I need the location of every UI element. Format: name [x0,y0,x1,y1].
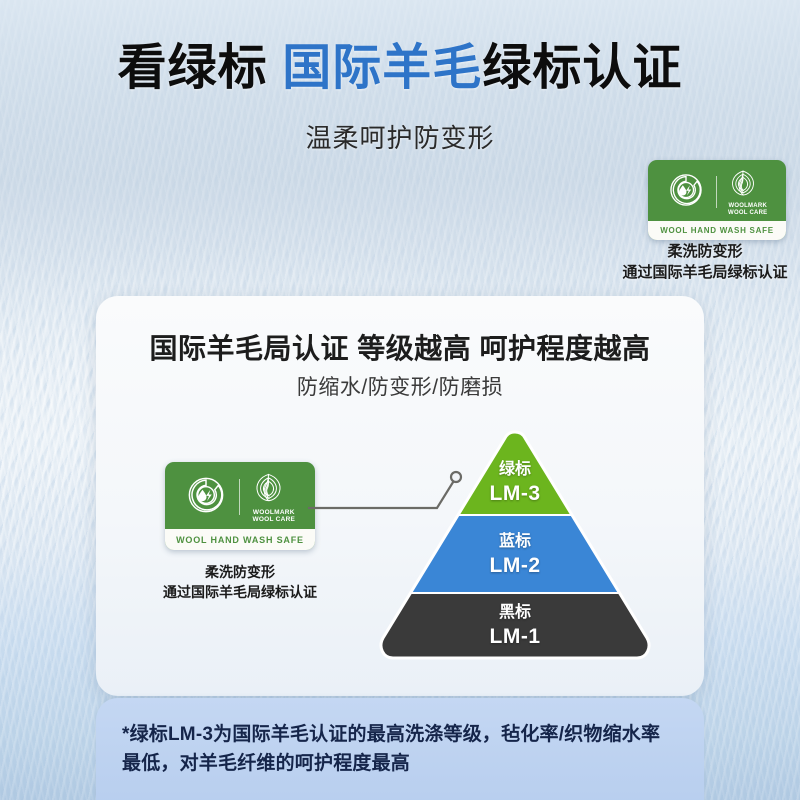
inner-caption-line-1: 柔洗防变形 [140,563,340,583]
wool-hand-wash-safe-badge-top: WOOLMARK WOOL CARE WOOL HAND WASH SAFE [648,160,786,240]
woolmark-wordmark: WOOLMARK WOOL CARE [728,203,767,216]
woolmark-logo-group: WOOLMARK WOOL CARE [252,471,295,524]
top-caption-line-1: 柔洗防变形 [610,242,800,263]
woolmark-line-1: WOOLMARK [728,203,767,210]
title-accent: 国际羊毛 [282,41,482,95]
woolmark-swirl-icon [728,168,767,203]
title-part-1: 看绿标 [118,41,283,95]
inner-caption-line-2: 通过国际羊毛局绿标认证 [140,583,340,603]
woolmark-line-1: WOOLMARK [252,509,295,516]
top-badge-caption: 柔洗防变形 通过国际羊毛局绿标认证 [610,242,800,283]
wool-hand-wash-safe-badge-inner: WOOLMARK WOOL CARE WOOL HAND WASH SAFE [165,462,315,550]
footnote-panel: *绿标LM-3为国际羊毛认证的最高洗涤等级，毡化率/织物缩水率最低，对羊毛纤维的… [96,698,704,800]
promo-canvas: 看绿标 国际羊毛绿标认证 温柔呵护防变形 [0,0,800,800]
woolmark-logo-group: WOOLMARK WOOL CARE [728,168,767,216]
badge-logo-row: WOOLMARK WOOL CARE [648,160,786,221]
badge-divider [239,479,241,515]
hand-wash-safe-icon [185,474,227,521]
title-part-2: 绿标认证 [482,41,682,95]
card-title: 国际羊毛局认证 等级越高 呵护程度越高 [96,327,704,367]
footnote-text: *绿标LM-3为国际羊毛认证的最高洗涤等级，毡化率/织物缩水率最低，对羊毛纤维的… [122,720,678,779]
page-title: 看绿标 国际羊毛绿标认证 [0,44,800,93]
inner-badge-caption: 柔洗防变形 通过国际羊毛局绿标认证 [140,563,340,603]
certification-pyramid [375,428,655,663]
badge-divider [716,176,718,208]
pyramid-tier-green [375,428,655,514]
woolmark-swirl-icon [252,471,295,509]
woolmark-line-2: WOOL CARE [728,210,767,217]
card-subtitle: 防缩水/防变形/防磨损 [96,371,704,401]
hand-wash-safe-icon [667,171,705,214]
page-subtitle: 温柔呵护防变形 [0,118,800,155]
top-caption-line-2: 通过国际羊毛局绿标认证 [610,263,800,284]
badge-logo-row: WOOLMARK WOOL CARE [165,462,315,529]
woolmark-line-2: WOOL CARE [252,516,295,523]
badge-strip-label: WOOL HAND WASH SAFE [648,221,786,240]
badge-strip-label: WOOL HAND WASH SAFE [165,529,315,550]
pyramid-tier-black [375,594,655,663]
woolmark-wordmark: WOOLMARK WOOL CARE [252,509,295,524]
